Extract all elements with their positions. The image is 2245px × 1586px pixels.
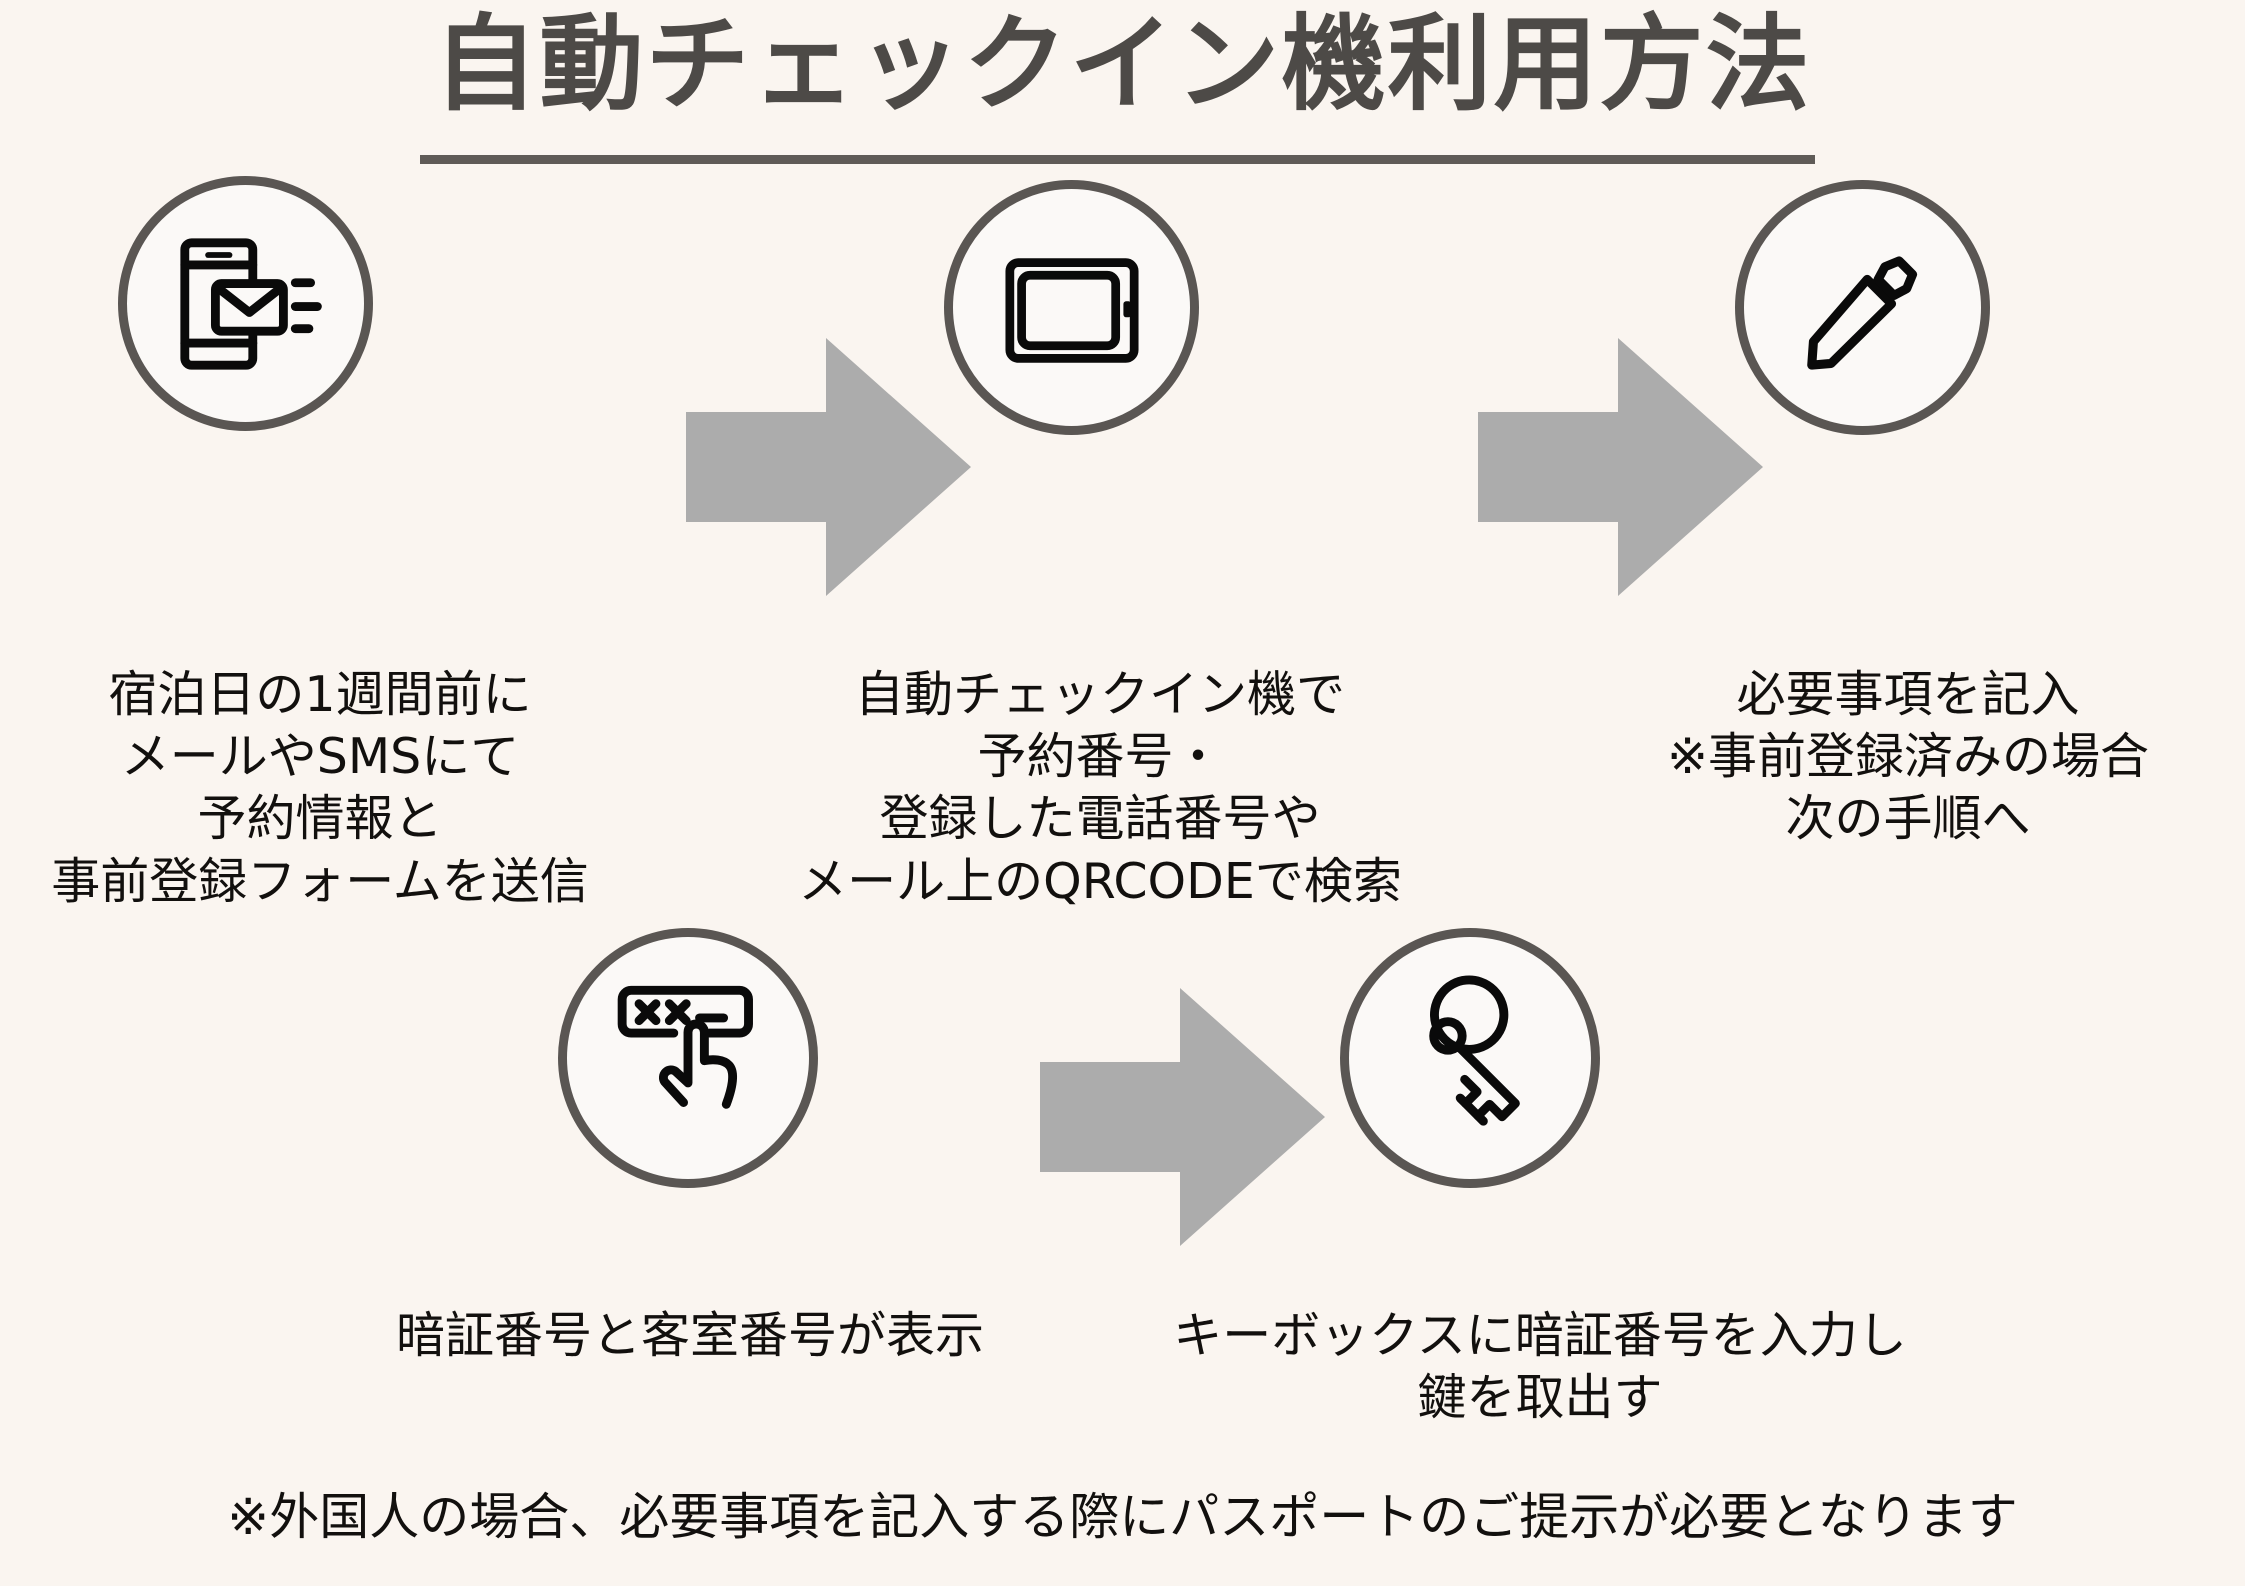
arrow-step2-to-step3: [1478, 330, 1768, 605]
key-icon: [1381, 969, 1559, 1147]
tablet-kiosk-icon: [988, 224, 1156, 392]
infographic-page: 自動チェックイン機利用方法: [0, 0, 2245, 1586]
page-title-wrapper: 自動チェックイン機利用方法: [0, 8, 2245, 120]
title-underline-rule: [420, 155, 1815, 164]
password-hand-icon: [599, 969, 777, 1147]
footnote-passport-notice: ※外国人の場合、必要事項を記入する際にパスポートのご提示が必要となります: [0, 1487, 2245, 1547]
step-4-icon-circle: [558, 928, 818, 1188]
step-2-icon-circle: [944, 180, 1199, 435]
step-3-icon-circle: [1735, 180, 1990, 435]
step-1-caption: 宿泊日の1週間前に メールやSMSにて 予約情報と 事前登録フォームを送信: [0, 664, 640, 913]
step-5-icon-circle: [1340, 928, 1600, 1188]
step-3-caption: 必要事項を記入 ※事前登録済みの場合 次の手順へ: [1570, 664, 2245, 851]
arrow-step1-to-step2: [686, 330, 976, 605]
arrow-step4-to-step5: [1040, 980, 1330, 1255]
pencil-icon: [1779, 224, 1947, 392]
step-2-caption: 自動チェックイン機で 予約番号・ 登録した電話番号や メール上のQRCODEで検…: [740, 664, 1460, 913]
page-title: 自動チェックイン機利用方法: [0, 8, 2245, 120]
step-5-caption: キーボックスに暗証番号を入力し 鍵を取出す: [1090, 1305, 1990, 1429]
step-1-icon-circle: [118, 176, 373, 431]
phone-email-icon: [161, 219, 331, 389]
step-4-caption: 暗証番号と客室番号が表示: [300, 1305, 1080, 1367]
